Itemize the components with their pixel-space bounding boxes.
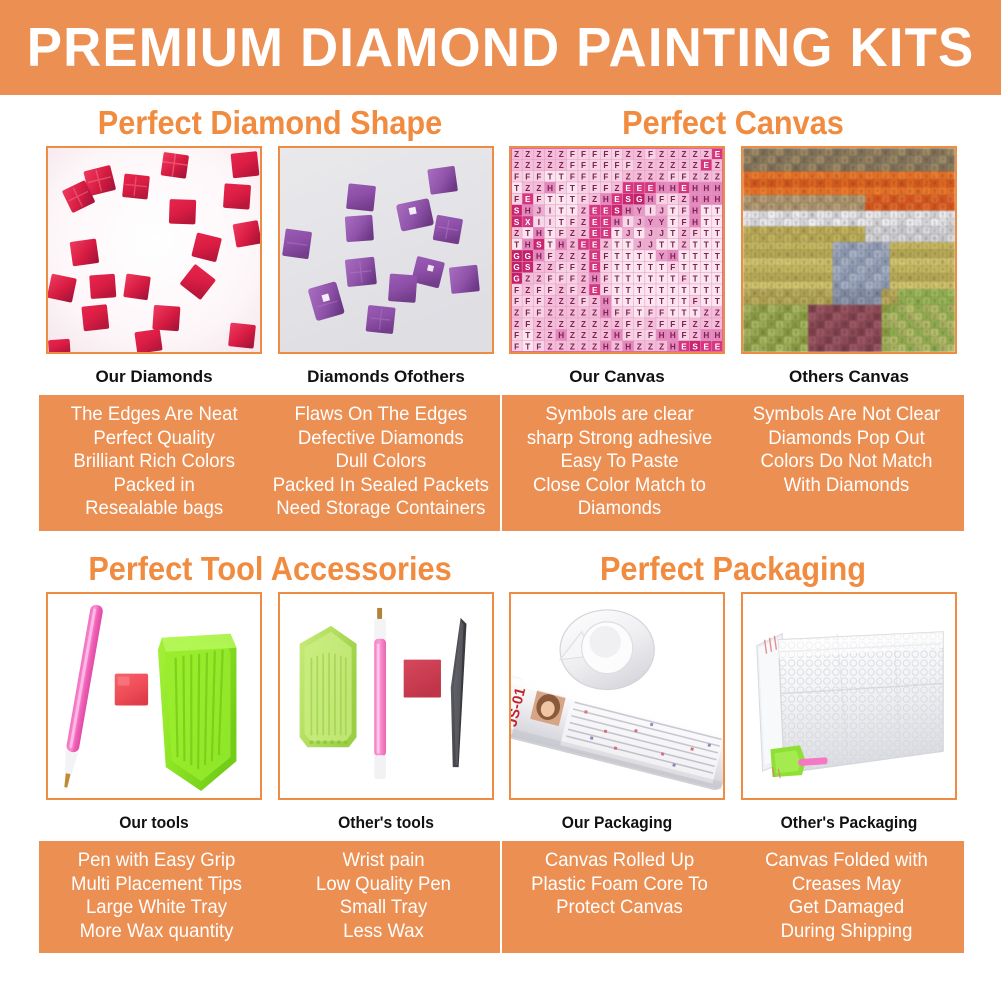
svg-text:E: E — [745, 284, 749, 290]
svg-text:Y: Y — [753, 213, 757, 219]
svg-text:T: T — [900, 315, 904, 321]
svg-text:Z: Z — [603, 320, 608, 329]
svg-text:Z: Z — [778, 197, 782, 203]
svg-text:F: F — [536, 173, 541, 182]
svg-text:L: L — [868, 315, 871, 321]
svg-text:?: ? — [786, 268, 789, 274]
svg-text:T: T — [715, 275, 720, 284]
svg-text:T: T — [811, 276, 815, 282]
svg-text:L: L — [925, 260, 928, 266]
svg-text:?: ? — [819, 252, 822, 258]
svg-text:B: B — [794, 276, 798, 282]
svg-text:T: T — [704, 275, 709, 284]
cons-list-packaging: Canvas Folded with Creases May Get Damag… — [739, 849, 955, 943]
svg-text:Z: Z — [827, 229, 831, 235]
cons-list-diamond-shape: Flaws On The Edges Defective Diamonds Du… — [271, 403, 491, 521]
svg-text:F: F — [908, 299, 912, 305]
svg-text:V: V — [786, 323, 790, 329]
svg-text:Z: Z — [581, 286, 586, 295]
svg-text:?: ? — [900, 268, 903, 274]
section-tools: Perfect Tool Accessories — [37, 546, 503, 955]
svg-text:Z: Z — [559, 309, 564, 318]
svg-text:L: L — [892, 166, 895, 172]
svg-text:F: F — [525, 173, 530, 182]
svg-text:Z: Z — [693, 320, 698, 329]
svg-text:V: V — [770, 276, 774, 282]
svg-text:T: T — [925, 276, 929, 282]
svg-text:L: L — [786, 190, 789, 196]
svg-text:L: L — [843, 244, 846, 250]
svg-text:?: ? — [794, 292, 797, 298]
photo-other-tools — [278, 592, 494, 800]
svg-text:T: T — [835, 346, 839, 352]
svg-text:F: F — [637, 320, 642, 329]
svg-text:Z: Z — [581, 331, 586, 340]
svg-text:T: T — [704, 229, 709, 238]
svg-text:B: B — [827, 260, 831, 266]
svg-text:Z: Z — [548, 297, 553, 306]
svg-text:V: V — [892, 190, 896, 196]
svg-text:V: V — [843, 268, 847, 274]
svg-text:V: V — [753, 339, 757, 345]
svg-text:H: H — [536, 252, 542, 261]
svg-text:F: F — [514, 297, 519, 306]
svg-text:2: 2 — [803, 166, 806, 172]
svg-text:F: F — [868, 182, 872, 188]
svg-text:E: E — [851, 260, 855, 266]
pros-line: The Edges Are Neat — [50, 403, 257, 427]
cons-list-canvas: Symbols Are Not Clear Diamonds Pop Out C… — [739, 403, 955, 521]
svg-text:1: 1 — [941, 244, 944, 250]
pros-line: Resealable bags — [50, 497, 257, 521]
svg-text:Z: Z — [868, 237, 872, 243]
pros-line: Protect Canvas — [514, 896, 726, 920]
cons-line: Symbols Are Not Clear — [741, 403, 953, 427]
svg-text:Z: Z — [933, 205, 937, 211]
image-cell-other-packaging: Other's Packaging — [741, 592, 957, 836]
svg-text:F: F — [835, 197, 839, 203]
svg-text:S: S — [625, 195, 631, 204]
svg-text:?: ? — [778, 244, 781, 250]
svg-text:2: 2 — [745, 331, 748, 337]
svg-text:Z: Z — [851, 299, 855, 305]
svg-text:2: 2 — [949, 260, 952, 266]
svg-text:?: ? — [900, 158, 903, 164]
cons-line: Colors Do Not Match — [741, 450, 953, 474]
svg-text:E: E — [949, 213, 953, 219]
svg-text:Z: Z — [603, 331, 608, 340]
svg-text:F: F — [851, 244, 855, 250]
svg-text:T: T — [794, 229, 798, 235]
svg-text:T: T — [827, 323, 831, 329]
svg-text:1: 1 — [843, 182, 846, 188]
svg-text:H: H — [525, 241, 531, 250]
svg-text:2: 2 — [794, 252, 797, 258]
pros-list-diamond-shape: The Edges Are Neat Perfect Quality Brill… — [49, 403, 260, 521]
svg-text:Y: Y — [794, 221, 798, 227]
svg-text:T: T — [819, 299, 823, 305]
svg-text:2: 2 — [770, 292, 773, 298]
svg-text:B: B — [876, 182, 880, 188]
cons-line: Small Tray — [278, 896, 490, 920]
svg-text:V: V — [892, 299, 896, 305]
svg-text:Z: Z — [514, 309, 519, 318]
svg-text:Z: Z — [637, 150, 642, 159]
svg-text:?: ? — [917, 315, 920, 321]
svg-text:Y: Y — [859, 190, 863, 196]
compare-panel-tools: Pen with Easy Grip Multi Placement Tips … — [37, 839, 503, 955]
svg-text:E: E — [786, 182, 790, 188]
svg-text:Z: Z — [548, 150, 553, 159]
svg-text:H: H — [714, 331, 720, 340]
svg-text:Y: Y — [908, 221, 912, 227]
svg-text:Z: Z — [704, 309, 709, 318]
svg-text:V: V — [949, 244, 953, 250]
svg-text:H: H — [603, 343, 609, 352]
svg-text:Z: Z — [626, 173, 631, 182]
svg-text:2: 2 — [827, 237, 830, 243]
svg-text:?: ? — [868, 174, 871, 180]
svg-text:H: H — [614, 331, 620, 340]
svg-text:Y: Y — [916, 244, 920, 250]
svg-text:Z: Z — [570, 343, 575, 352]
svg-text:Z: Z — [581, 263, 586, 272]
svg-text:F: F — [819, 260, 823, 266]
svg-text:Z: Z — [536, 320, 541, 329]
svg-text:H: H — [603, 195, 609, 204]
svg-text:F: F — [592, 184, 597, 193]
svg-text:Z: Z — [570, 309, 575, 318]
svg-text:T: T — [835, 237, 839, 243]
svg-text:L: L — [803, 346, 806, 352]
svg-text:E: E — [916, 229, 920, 235]
svg-text:Z: Z — [715, 161, 720, 170]
svg-text:Z: Z — [770, 284, 774, 290]
svg-text:T: T — [670, 286, 675, 295]
svg-text:Z: Z — [570, 252, 575, 261]
svg-text:T: T — [648, 252, 653, 261]
svg-text:T: T — [681, 297, 686, 306]
pros-line: More Wax quantity — [51, 920, 263, 944]
svg-text:V: V — [867, 229, 871, 235]
svg-text:F: F — [637, 331, 642, 340]
svg-text:F: F — [933, 150, 937, 156]
svg-text:2: 2 — [941, 237, 944, 243]
svg-text:2: 2 — [933, 323, 936, 329]
svg-text:F: F — [570, 286, 575, 295]
svg-text:S: S — [536, 241, 542, 250]
svg-text:T: T — [786, 315, 790, 321]
svg-text:1: 1 — [754, 252, 757, 258]
cons-line: Get Damaged — [741, 896, 953, 920]
svg-text:Z: Z — [693, 173, 698, 182]
image-cell-other-tools: Other's tools — [278, 592, 494, 836]
svg-text:T: T — [570, 195, 575, 204]
page-title: PREMIUM DIAMOND PAINTING KITS — [27, 20, 975, 75]
svg-text:B: B — [851, 331, 855, 337]
svg-text:H: H — [703, 331, 709, 340]
svg-text:1: 1 — [892, 323, 895, 329]
svg-text:Z: Z — [770, 174, 774, 180]
svg-text:J: J — [637, 241, 642, 250]
svg-text:Z: Z — [626, 150, 631, 159]
svg-text:F: F — [581, 184, 586, 193]
svg-text:T: T — [949, 346, 953, 352]
svg-text:L: L — [909, 323, 912, 329]
svg-text:F: F — [900, 276, 904, 282]
svg-text:Z: Z — [925, 182, 929, 188]
svg-text:Y: Y — [851, 276, 855, 282]
svg-text:J: J — [659, 207, 664, 216]
svg-text:F: F — [603, 286, 608, 295]
svg-text:H: H — [692, 207, 698, 216]
svg-text:?: ? — [941, 276, 944, 282]
svg-text:1: 1 — [835, 158, 838, 164]
svg-text:1: 1 — [762, 166, 765, 172]
svg-text:Y: Y — [770, 150, 774, 156]
svg-text:T: T — [778, 182, 782, 188]
svg-text:T: T — [637, 229, 642, 238]
svg-text:Z: Z — [637, 343, 642, 352]
svg-text:F: F — [536, 343, 541, 352]
svg-text:L: L — [754, 205, 757, 211]
svg-text:F: F — [827, 174, 831, 180]
svg-text:2: 2 — [868, 244, 871, 250]
svg-text:2: 2 — [786, 339, 789, 345]
svg-text:H: H — [558, 241, 564, 250]
svg-text:Z: Z — [715, 173, 720, 182]
svg-text:2: 2 — [876, 158, 879, 164]
svg-text:2: 2 — [843, 174, 846, 180]
svg-text:F: F — [811, 346, 815, 352]
svg-text:T: T — [670, 309, 675, 318]
svg-text:Z: Z — [762, 150, 766, 156]
svg-text:E: E — [592, 263, 598, 272]
svg-text:E: E — [802, 339, 806, 345]
svg-text:1: 1 — [933, 221, 936, 227]
cons-list-tools: Wrist pain Low Quality Pen Small Tray Le… — [276, 849, 492, 943]
svg-text:T: T — [559, 207, 564, 216]
svg-text:Z: Z — [581, 309, 586, 318]
svg-text:Z: Z — [917, 268, 921, 274]
svg-text:V: V — [851, 292, 855, 298]
svg-text:H: H — [558, 331, 564, 340]
svg-text:?: ? — [803, 315, 806, 321]
svg-text:F: F — [876, 205, 880, 211]
pros-line: Large White Tray — [51, 896, 263, 920]
svg-text:H: H — [547, 184, 553, 193]
svg-text:L: L — [827, 197, 830, 203]
svg-text:Z: Z — [859, 213, 863, 219]
svg-text:?: ? — [860, 150, 863, 156]
svg-text:Z: Z — [670, 150, 675, 159]
svg-text:2: 2 — [884, 292, 887, 298]
svg-text:T: T — [626, 297, 631, 306]
image-cell-our-canvas: ZZZZZFFFFFZZFZZZZZEZZZZZFFFFFFZZZZZZEZFF… — [509, 146, 725, 390]
svg-text:F: F — [525, 297, 530, 306]
svg-text:1: 1 — [819, 221, 822, 227]
svg-text:T: T — [693, 241, 698, 250]
svg-text:F: F — [648, 309, 653, 318]
pros-line: Diamonds — [514, 497, 726, 521]
svg-text:T: T — [514, 241, 519, 250]
svg-text:T: T — [681, 263, 686, 272]
svg-text:Z: Z — [786, 331, 790, 337]
svg-text:?: ? — [949, 299, 952, 305]
svg-text:F: F — [659, 309, 664, 318]
svg-text:?: ? — [876, 197, 879, 203]
svg-text:F: F — [949, 197, 953, 203]
svg-text:T: T — [884, 158, 888, 164]
svg-text:1: 1 — [949, 268, 952, 274]
svg-text:Z: Z — [548, 161, 553, 170]
svg-text:B: B — [884, 205, 888, 211]
svg-text:F: F — [892, 252, 896, 258]
svg-text:?: ? — [835, 299, 838, 305]
svg-text:T: T — [615, 241, 620, 250]
svg-text:?: ? — [843, 213, 846, 219]
svg-text:B: B — [859, 244, 863, 250]
svg-text:?: ? — [754, 284, 757, 290]
svg-text:E: E — [892, 158, 896, 164]
cons-line: Dull Colors — [273, 450, 489, 474]
svg-text:?: ? — [925, 229, 928, 235]
pros-line: Brilliant Rich Colors — [50, 450, 257, 474]
svg-text:?: ? — [794, 182, 797, 188]
svg-text:?: ? — [811, 229, 814, 235]
svg-text:F: F — [626, 331, 631, 340]
svg-text:Y: Y — [810, 158, 814, 164]
svg-text:Y: Y — [761, 346, 765, 352]
svg-text:Z: Z — [648, 320, 653, 329]
svg-text:?: ? — [860, 260, 863, 266]
svg-text:F: F — [925, 237, 929, 243]
svg-text:H: H — [692, 195, 698, 204]
svg-text:B: B — [778, 339, 782, 345]
svg-text:E: E — [859, 284, 863, 290]
svg-text:Z: Z — [884, 174, 888, 180]
svg-text:T: T — [525, 343, 530, 352]
svg-text:I: I — [549, 207, 551, 216]
svg-text:L: L — [949, 331, 952, 337]
svg-text:Z: Z — [802, 268, 806, 274]
svg-text:E: E — [908, 205, 912, 211]
svg-text:?: ? — [803, 205, 806, 211]
svg-text:J: J — [537, 207, 542, 216]
cons-line: With Diamonds — [741, 474, 953, 498]
svg-text:Y: Y — [876, 237, 880, 243]
svg-text:?: ? — [909, 292, 912, 298]
svg-text:F: F — [753, 182, 757, 188]
svg-text:B: B — [745, 244, 749, 250]
svg-text:B: B — [843, 197, 847, 203]
svg-text:F: F — [693, 229, 698, 238]
svg-text:Z: Z — [908, 244, 912, 250]
svg-text:Z: Z — [559, 286, 564, 295]
svg-text:B: B — [761, 292, 765, 298]
svg-text:2: 2 — [925, 299, 928, 305]
svg-text:S: S — [514, 207, 520, 216]
svg-text:L: L — [835, 331, 838, 337]
svg-text:Y: Y — [933, 292, 937, 298]
svg-text:2: 2 — [933, 213, 936, 219]
svg-text:F: F — [559, 184, 564, 193]
svg-text:Z: Z — [693, 331, 698, 340]
svg-text:E: E — [819, 276, 823, 282]
svg-text:1: 1 — [876, 276, 879, 282]
svg-text:E: E — [851, 150, 855, 156]
svg-text:?: ? — [754, 174, 757, 180]
cons-line: Canvas Folded with — [741, 849, 953, 873]
svg-text:V: V — [908, 346, 912, 352]
svg-text:Z: Z — [648, 173, 653, 182]
svg-text:T: T — [626, 252, 631, 261]
svg-text:V: V — [916, 150, 920, 156]
svg-text:V: V — [753, 229, 757, 235]
svg-text:B: B — [835, 284, 839, 290]
svg-text:2: 2 — [917, 276, 920, 282]
svg-text:F: F — [778, 252, 782, 258]
svg-text:F: F — [648, 150, 653, 159]
svg-text:S: S — [525, 263, 531, 272]
svg-text:Y: Y — [648, 218, 654, 227]
svg-text:T: T — [859, 197, 863, 203]
svg-text:Z: Z — [843, 276, 847, 282]
svg-text:F: F — [681, 218, 686, 227]
svg-text:F: F — [570, 173, 575, 182]
svg-text:V: V — [884, 166, 888, 172]
svg-text:2: 2 — [851, 197, 854, 203]
svg-text:E: E — [794, 315, 798, 321]
svg-text:F: F — [908, 190, 912, 196]
svg-text:2: 2 — [860, 221, 863, 227]
svg-text:V: V — [835, 244, 839, 250]
svg-text:T: T — [704, 297, 709, 306]
svg-text:T: T — [704, 207, 709, 216]
svg-text:?: ? — [827, 166, 830, 172]
svg-text:E: E — [810, 252, 814, 258]
svg-text:2: 2 — [892, 315, 895, 321]
svg-text:T: T — [811, 166, 815, 172]
svg-text:1: 1 — [745, 229, 748, 235]
svg-text:F: F — [603, 150, 608, 159]
svg-text:?: ? — [745, 150, 748, 156]
svg-text:V: V — [908, 237, 912, 243]
header-bar: PREMIUM DIAMOND PAINTING KITS — [0, 0, 1001, 95]
svg-text:T: T — [570, 207, 575, 216]
svg-text:F: F — [615, 309, 620, 318]
svg-text:Z: Z — [851, 190, 855, 196]
svg-text:F: F — [745, 268, 749, 274]
svg-text:L: L — [811, 150, 814, 156]
svg-text:V: V — [827, 331, 831, 337]
svg-text:F: F — [514, 173, 519, 182]
svg-text:F: F — [615, 161, 620, 170]
svg-text:F: F — [581, 161, 586, 170]
svg-text:1: 1 — [851, 205, 854, 211]
svg-text:H: H — [603, 309, 609, 318]
svg-text:F: F — [536, 297, 541, 306]
svg-text:V: V — [859, 315, 863, 321]
svg-text:F: F — [884, 339, 888, 345]
svg-text:Y: Y — [835, 229, 839, 235]
svg-text:B: B — [876, 292, 880, 298]
caption-other-tools: Other's tools — [287, 800, 486, 836]
svg-text:Z: Z — [525, 275, 530, 284]
svg-text:E: E — [835, 213, 839, 219]
svg-text:F: F — [900, 166, 904, 172]
svg-text:F: F — [548, 275, 553, 284]
